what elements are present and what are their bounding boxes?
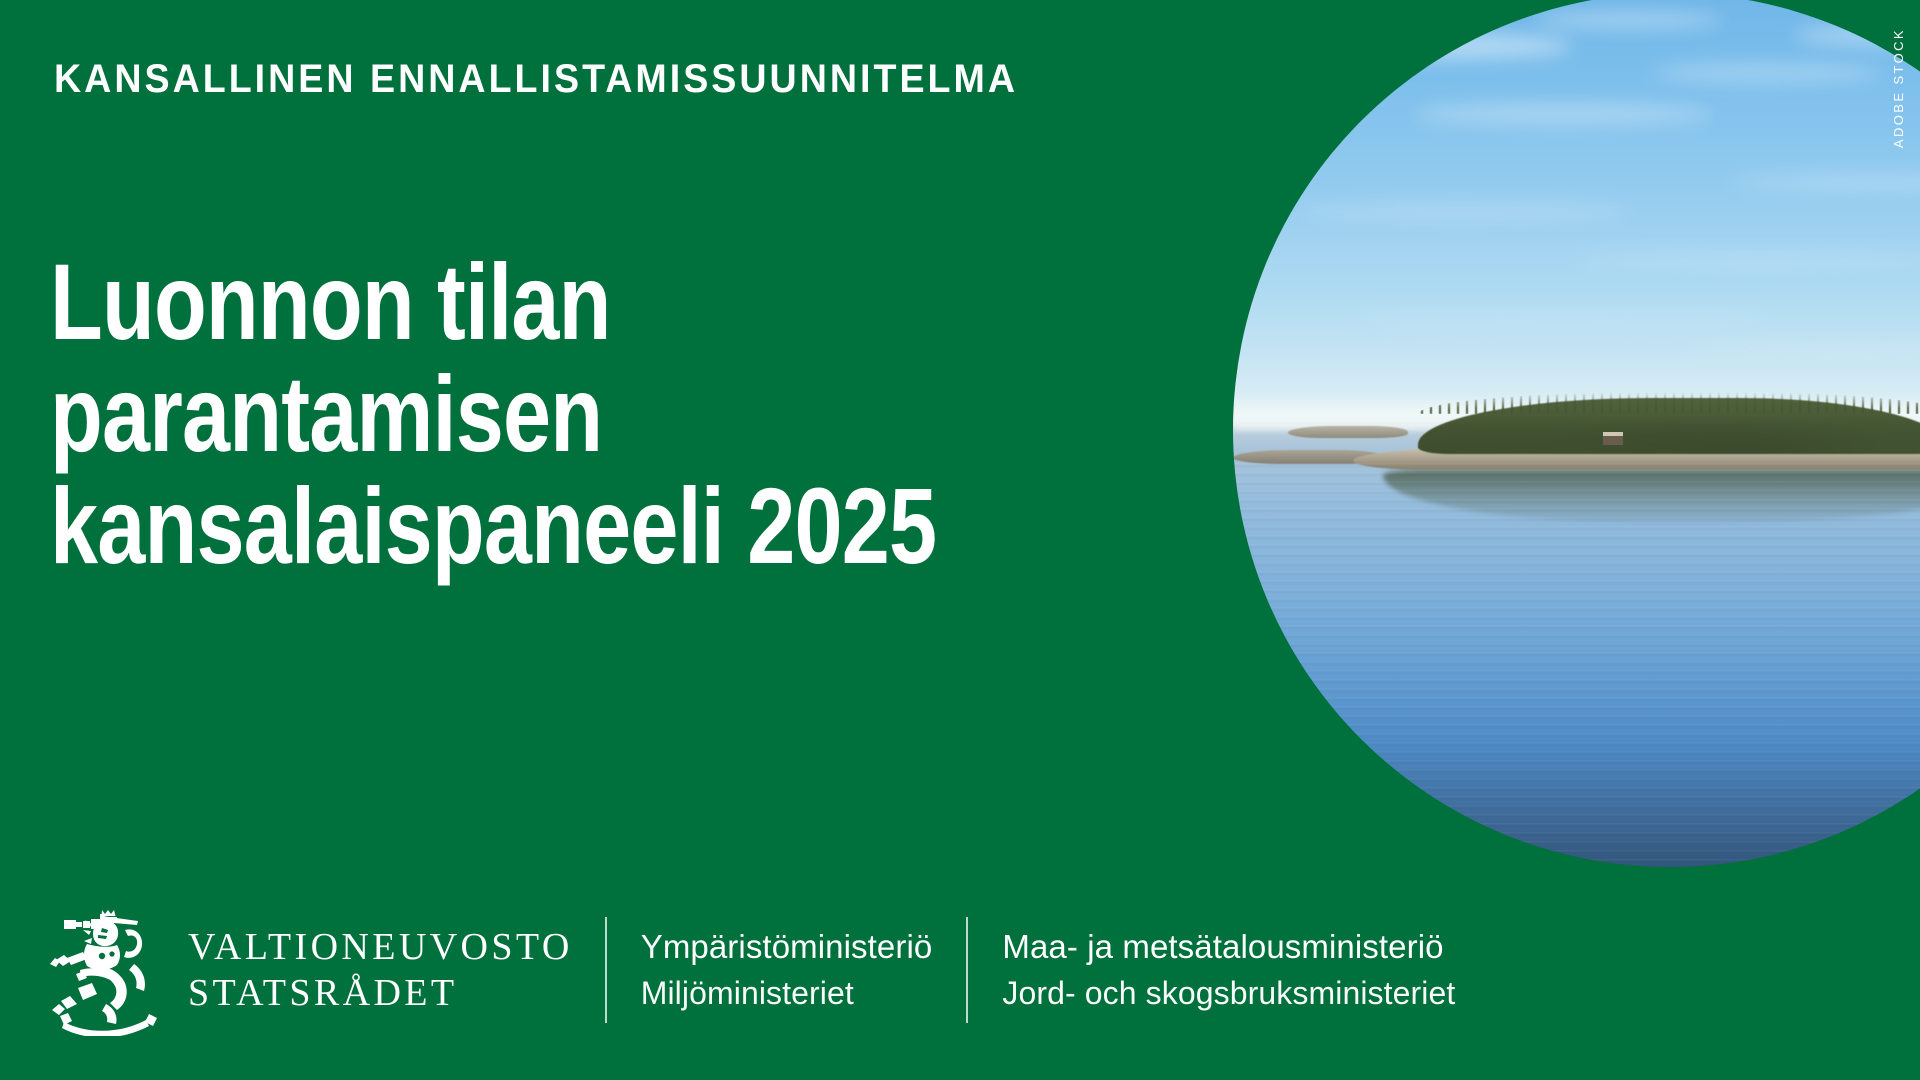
- page-title-line-1: Luonnon tilan: [50, 246, 936, 358]
- cloud-wisp: [1533, 11, 1723, 29]
- ministry-name-fi: Ympäristöministeriö: [641, 924, 933, 970]
- ministry-agriculture-forestry: Maa- ja metsätalousministeriö Jord- och …: [968, 924, 1489, 1016]
- ministry-name-sv: Miljöministeriet: [641, 970, 933, 1016]
- page-title-line-3: kansalaispaneeli 2025: [50, 470, 936, 582]
- cloud-wisp: [1573, 253, 1920, 267]
- cloud-wisp: [1293, 203, 1633, 219]
- poster-root: ADOBE STOCK KANSALLINEN ENNALLISTAMISSUU…: [0, 0, 1920, 1080]
- page-title-line-2: parantamisen: [50, 358, 936, 470]
- island-cabin: [1603, 432, 1623, 445]
- ministry-environment: Ympäristöministeriö Miljöministeriet: [607, 924, 967, 1016]
- small-islet: [1288, 426, 1408, 438]
- finland-coat-of-arms-lion-icon: [50, 904, 162, 1036]
- ministry-name-sv: Jord- och skogsbruksministeriet: [1002, 970, 1455, 1016]
- government-name-fi: VALTIONEUVOSTO: [188, 924, 573, 970]
- footer-logo-bar: VALTIONEUVOSTO STATSRÅDET Ympäristöminis…: [50, 904, 1489, 1036]
- kicker-label: KANSALLINEN ENNALLISTAMISSUUNNITELMA: [54, 57, 1018, 102]
- cloud-wisp: [1413, 103, 1713, 125]
- cloud-wisp: [1683, 343, 1920, 354]
- ministry-name-fi: Maa- ja metsätalousministeriö: [1002, 924, 1455, 970]
- island-treetops: [1418, 392, 1920, 414]
- government-name-sv: STATSRÅDET: [188, 970, 573, 1016]
- cloud-wisp: [1323, 33, 1573, 59]
- cloud-wisp: [1733, 173, 1920, 191]
- cloud-wisp: [1353, 313, 1773, 325]
- water-ripples: [1233, 463, 1920, 867]
- government-wordmark: VALTIONEUVOSTO STATSRÅDET: [188, 924, 605, 1016]
- cloud-wisp: [1653, 63, 1883, 83]
- hero-photo-circle: [1233, 0, 1920, 867]
- page-title: Luonnon tilan parantamisen kansalaispane…: [50, 246, 1158, 582]
- photo-credit: ADOBE STOCK: [1891, 28, 1906, 148]
- photo-sky-and-water: [1233, 0, 1920, 867]
